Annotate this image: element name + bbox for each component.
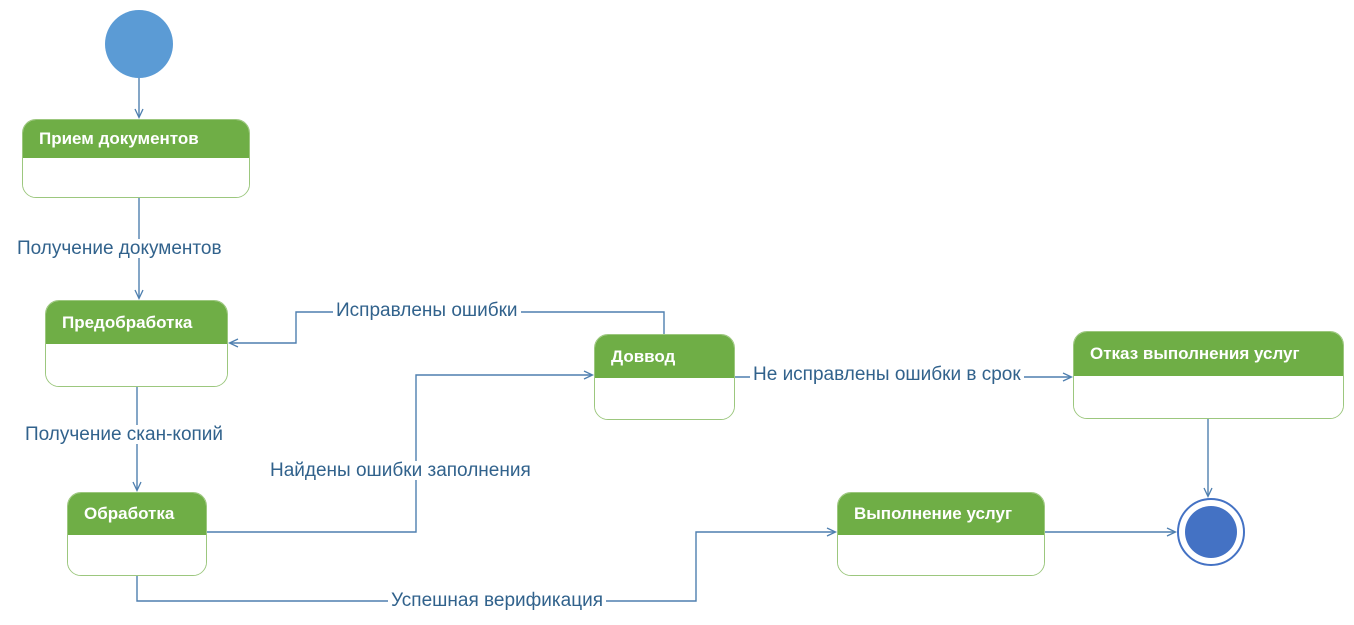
activity-diagram-canvas: Прием документовПредобработкаОбработкаДо… (0, 0, 1354, 625)
edge-label-e5: Найдены ошибки заполнения (267, 461, 534, 480)
end-node-inner-fill (1185, 506, 1237, 558)
activity-node-body-vypolnenie (838, 535, 1044, 575)
edge-label-e2: Получение документов (14, 239, 225, 258)
activity-node-title-priem: Прием документов (23, 120, 249, 158)
activity-node-predobrabotka[interactable]: Предобработка (45, 300, 228, 387)
activity-node-body-predobrabotka (46, 344, 227, 386)
edge-e5 (207, 375, 592, 532)
activity-node-dovvod[interactable]: Доввод (594, 334, 735, 420)
activity-node-obrabotka[interactable]: Обработка (67, 492, 207, 576)
activity-node-priem[interactable]: Прием документов (22, 119, 250, 198)
edge-label-e6: Не исправлены ошибки в срок (750, 365, 1024, 384)
activity-node-body-obrabotka (68, 535, 206, 575)
edge-label-e4: Исправлены ошибки (333, 301, 521, 320)
edge-label-e8: Успешная верификация (388, 591, 606, 610)
activity-node-title-dovvod: Доввод (595, 335, 734, 378)
activity-node-otkaz[interactable]: Отказ выполнения услуг (1073, 331, 1344, 419)
end-node[interactable] (1177, 498, 1245, 566)
activity-node-title-vypolnenie: Выполнение услуг (838, 493, 1044, 535)
start-node[interactable] (105, 10, 173, 78)
activity-node-vypolnenie[interactable]: Выполнение услуг (837, 492, 1045, 576)
activity-node-body-otkaz (1074, 376, 1343, 418)
activity-node-title-predobrabotka: Предобработка (46, 301, 227, 344)
edge-label-e3: Получение скан-копий (22, 425, 226, 444)
activity-node-body-priem (23, 158, 249, 197)
activity-node-title-obrabotka: Обработка (68, 493, 206, 535)
activity-node-body-dovvod (595, 378, 734, 419)
activity-node-title-otkaz: Отказ выполнения услуг (1074, 332, 1343, 376)
